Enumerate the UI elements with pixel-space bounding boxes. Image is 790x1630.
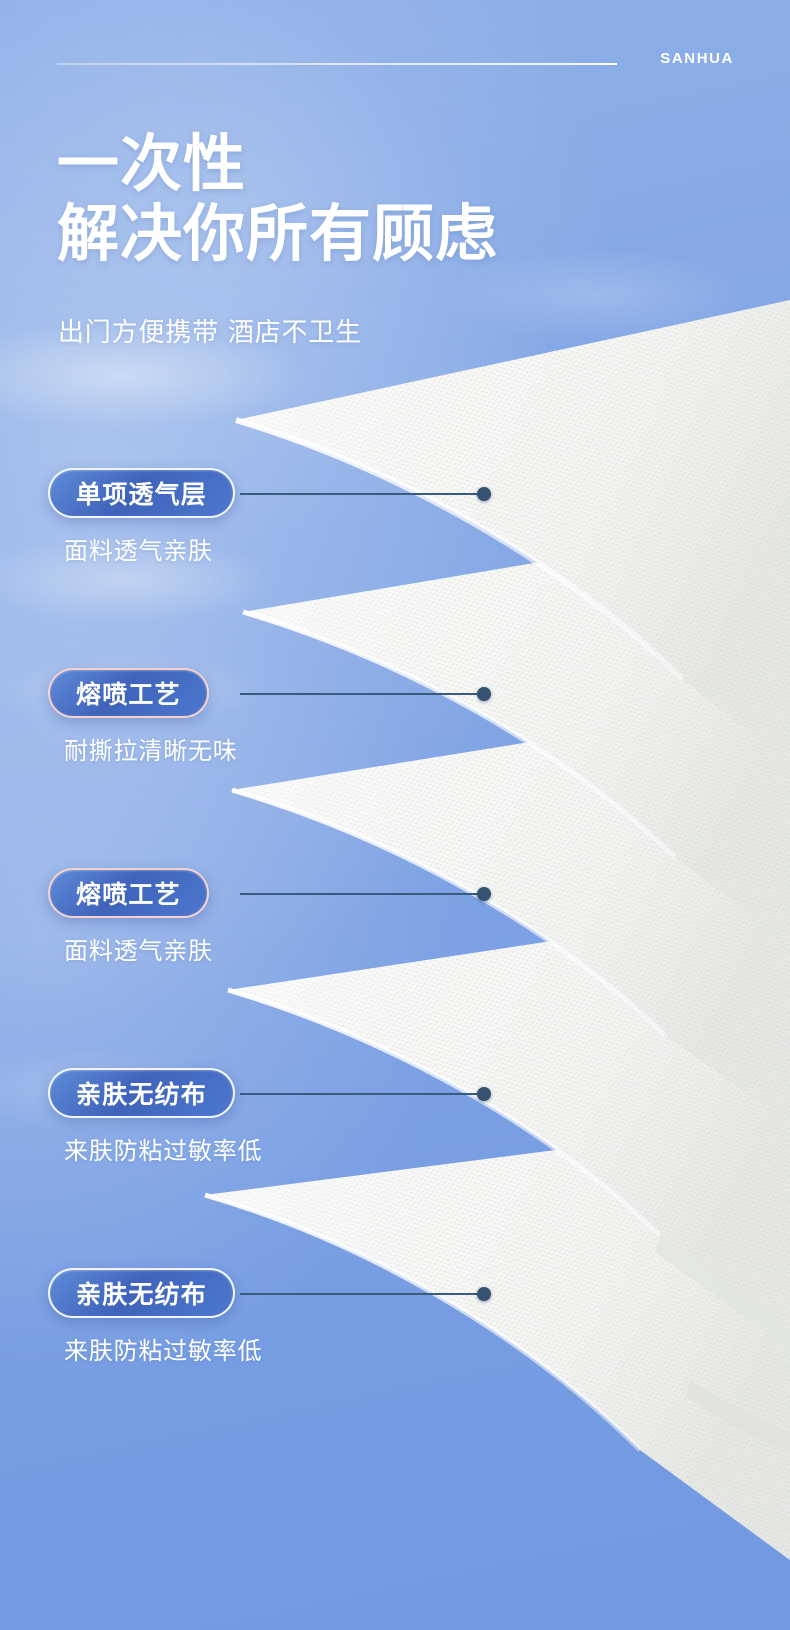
leader-dot-2 xyxy=(477,687,491,701)
header-divider-icon xyxy=(57,63,617,65)
feature-caption-4: 来肤防粘过敏率低 xyxy=(64,1131,262,1166)
leader-dot-5 xyxy=(477,1287,491,1301)
leader-dot-1 xyxy=(477,487,491,501)
feature-label-pill-3[interactable]: 熔喷工艺 xyxy=(48,868,209,918)
feature-caption-3: 面料透气亲肤 xyxy=(64,931,213,966)
feature-caption-1: 面料透气亲肤 xyxy=(64,531,235,566)
page-title: 一次性 解决你所有顾虑 xyxy=(57,132,498,267)
page-subtitle: 出门方便携带 酒店不卫生 xyxy=(58,312,362,349)
feature-label-pill-4[interactable]: 亲肤无纺布 xyxy=(48,1068,235,1118)
feature-caption-5: 来肤防粘过敏率低 xyxy=(64,1331,262,1366)
leader-line-3 xyxy=(240,893,478,895)
title-line-2: 解决你所有顾虑 xyxy=(57,202,498,266)
brand-logo: SANHUA xyxy=(660,50,734,67)
feature-callout-2: 熔喷工艺 耐撕拉清晰无味 xyxy=(48,668,238,766)
feature-label-pill-1[interactable]: 单项透气层 xyxy=(48,468,235,518)
feature-callout-3: 熔喷工艺 面料透气亲肤 xyxy=(48,868,213,966)
leader-line-5 xyxy=(240,1293,478,1295)
page-header: SANHUA xyxy=(0,46,790,82)
feature-callout-5: 亲肤无纺布 来肤防粘过敏率低 xyxy=(48,1268,262,1366)
leader-dot-3 xyxy=(477,887,491,901)
feature-label-pill-2[interactable]: 熔喷工艺 xyxy=(48,668,209,718)
feature-callout-1: 单项透气层 面料透气亲肤 xyxy=(48,468,235,566)
leader-dot-4 xyxy=(477,1087,491,1101)
leader-line-4 xyxy=(240,1093,478,1095)
title-line-1: 一次性 xyxy=(57,132,498,196)
feature-label-pill-5[interactable]: 亲肤无纺布 xyxy=(48,1268,235,1318)
leader-line-1 xyxy=(240,493,478,495)
feature-callout-4: 亲肤无纺布 来肤防粘过敏率低 xyxy=(48,1068,262,1166)
leader-line-2 xyxy=(240,693,478,695)
feature-caption-2: 耐撕拉清晰无味 xyxy=(64,731,238,766)
